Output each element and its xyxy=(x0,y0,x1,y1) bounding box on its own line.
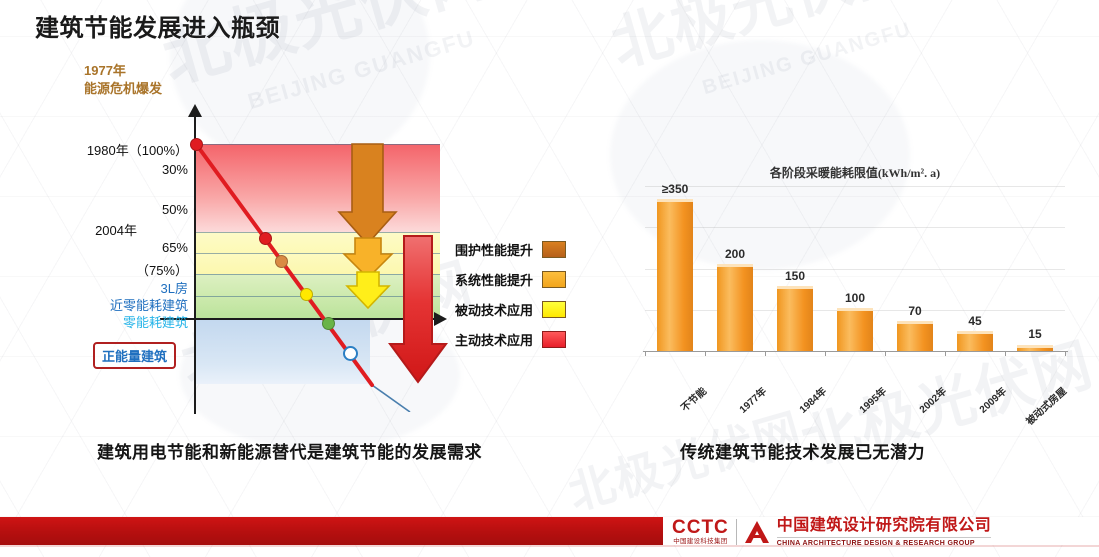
company-name-block: 中国建筑设计研究院有限公司 CHINA ARCHITECTURE DESIGN … xyxy=(777,518,992,547)
legend-label: 围护性能提升 xyxy=(455,240,533,259)
data-point-1980 xyxy=(190,138,203,151)
bar xyxy=(657,199,693,351)
band-active-tech xyxy=(195,144,440,232)
legend-item-passive: 被动技术应用 xyxy=(455,300,566,319)
bar xyxy=(717,264,753,351)
data-point-3l xyxy=(322,317,335,330)
bar-value-label: 100 xyxy=(825,291,885,305)
legend-swatch-icon xyxy=(542,241,566,258)
bar-value-label: 200 xyxy=(705,247,765,261)
legend: 围护性能提升 系统性能提升 被动技术应用 主动技术应用 xyxy=(455,240,566,360)
cctc-logo: CCTC 中国建设科技集团 xyxy=(672,518,729,546)
legend-label: 被动技术应用 xyxy=(455,300,533,319)
ylabel-50: 50% xyxy=(0,202,188,217)
company-name-en: CHINA ARCHITECTURE DESIGN & RESEARCH GRO… xyxy=(777,537,992,547)
bar-value-label: 70 xyxy=(885,304,945,318)
data-point-75 xyxy=(300,288,313,301)
bar-category-label: 1984年 xyxy=(774,383,829,434)
band-passive-tech-1 xyxy=(195,232,440,253)
band-passive-tech-2 xyxy=(195,253,440,274)
legend-label: 系统性能提升 xyxy=(455,270,533,289)
band-system-perf xyxy=(195,274,440,296)
axis-tick xyxy=(825,351,826,356)
chart-plot-area: ≥350不节能2001977年1501984年1001995年702002年45… xyxy=(645,186,1065,351)
band-envelope-perf xyxy=(195,296,440,319)
cctc-mark-text: CCTC xyxy=(672,518,729,537)
bar xyxy=(837,308,873,351)
ylabel-30: 30% xyxy=(0,162,188,177)
legend-swatch-icon xyxy=(542,301,566,318)
chart-gridline xyxy=(645,186,1065,187)
positive-energy-building-label: 正能量建筑 xyxy=(93,342,176,369)
axis-tick xyxy=(945,351,946,356)
bar-category-label: 2009年 xyxy=(954,383,1009,434)
ylabel-zero-energy: 零能耗建筑 xyxy=(0,312,188,331)
bar-category-label: 不节能 xyxy=(654,383,709,434)
company-name-cn: 中国建筑设计研究院有限公司 xyxy=(777,518,992,534)
band-gridline xyxy=(195,296,440,297)
bar-category-label: 2002年 xyxy=(894,383,949,434)
ylabel-1980: 1980年（100%） xyxy=(0,140,188,159)
bar-value-label: 45 xyxy=(945,314,1005,328)
band-gridline xyxy=(195,144,440,145)
axis-tick xyxy=(645,351,646,356)
axis-tick xyxy=(705,351,706,356)
band-gridline xyxy=(195,253,440,254)
footer-logo-zone: CCTC 中国建设科技集团 中国建筑设计研究院有限公司 CHINA ARCHIT… xyxy=(672,512,1092,552)
page-title: 建筑节能发展进入瓶颈 xyxy=(35,8,280,43)
axis-tick xyxy=(1005,351,1006,356)
legend-swatch-icon xyxy=(542,271,566,288)
bar-value-label: 150 xyxy=(765,269,825,283)
data-point-zero-energy xyxy=(343,346,358,361)
ylabel-2004: 2004年 xyxy=(0,220,137,239)
annotation-year: 1977年 xyxy=(84,62,162,80)
slide-canvas: 北极光伏网 北极光伏网 北极光伏网 北极光伏网 北极光伏网 BEIJING GU… xyxy=(0,0,1099,557)
band-gridline xyxy=(195,232,440,233)
right-caption: 传统建筑节能技术发展已无潜力 xyxy=(680,438,925,463)
chart-title: 各阶段采暖能耗限值(kWh/m². a) xyxy=(625,164,1085,181)
watermark-subtext: BEIJING GUANGFU xyxy=(700,18,915,100)
x-axis-arrow-icon xyxy=(434,312,447,326)
energy-bands xyxy=(195,144,440,319)
left-caption: 建筑用电节能和新能源替代是建筑节能的发展需求 xyxy=(97,438,482,463)
trend-line-extension xyxy=(372,385,410,412)
right-bar-chart: 各阶段采暖能耗限值(kWh/m². a) ≥350不节能2001977年1501… xyxy=(625,160,1085,410)
bar-category-label: 1977年 xyxy=(714,383,769,434)
annotation-event: 能源危机爆发 xyxy=(84,80,162,98)
legend-item-active: 主动技术应用 xyxy=(455,330,566,349)
bar xyxy=(897,321,933,351)
axis-tick xyxy=(765,351,766,356)
bar-value-label: ≥350 xyxy=(645,182,705,196)
x-axis-line xyxy=(160,318,435,320)
data-point-2004 xyxy=(259,232,272,245)
bar xyxy=(957,331,993,351)
energy-crisis-annotation: 1977年 能源危机爆发 xyxy=(84,62,162,98)
bar-category-label: 1995年 xyxy=(834,383,889,434)
legend-label: 主动技术应用 xyxy=(455,330,533,349)
cctc-sub-text: 中国建设科技集团 xyxy=(673,539,727,546)
ylabel-65: 65% xyxy=(0,240,188,255)
watermark-text: 北极光伏网 xyxy=(600,0,922,84)
bar xyxy=(777,286,813,351)
band-gridline xyxy=(195,274,440,275)
legend-item-envelope: 围护性能提升 xyxy=(455,240,566,259)
axis-tick xyxy=(885,351,886,356)
legend-swatch-icon xyxy=(542,331,566,348)
chart-gridline xyxy=(645,269,1065,270)
triangle-logo-icon xyxy=(744,520,770,544)
left-diagram: 1977年 能源危机爆发 xyxy=(0,52,620,412)
chart-gridline xyxy=(645,227,1065,228)
y-axis-arrow-icon xyxy=(188,104,202,117)
data-point-65 xyxy=(275,255,288,268)
y-axis-line xyxy=(194,114,196,414)
logo-divider xyxy=(736,519,737,545)
ylabel-75: （75%） xyxy=(0,260,188,279)
bar-value-label: 15 xyxy=(1005,327,1065,341)
bar-category-label: 被动式房屋 xyxy=(1014,383,1069,434)
legend-item-system: 系统性能提升 xyxy=(455,270,566,289)
axis-tick xyxy=(1065,351,1066,356)
